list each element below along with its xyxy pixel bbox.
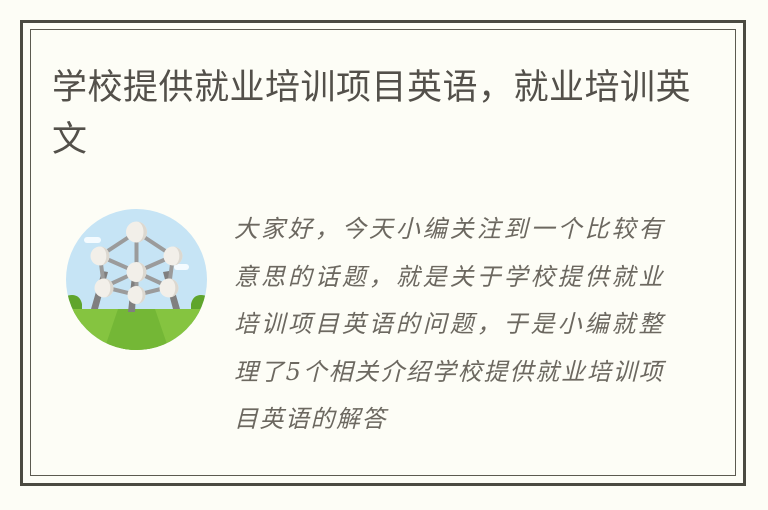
article-thumbnail <box>66 209 207 350</box>
page-title: 学校提供就业培训项目英语，就业培训英文 <box>52 62 692 166</box>
article-body: 大家好，今天小编关注到一个比较有意思的话题，就是关于学校提供就业培训项目英语的问… <box>234 206 664 444</box>
atomium-landmark-illustration <box>66 209 207 350</box>
article-card: 学校提供就业培训项目英语，就业培训英文 <box>0 0 768 510</box>
